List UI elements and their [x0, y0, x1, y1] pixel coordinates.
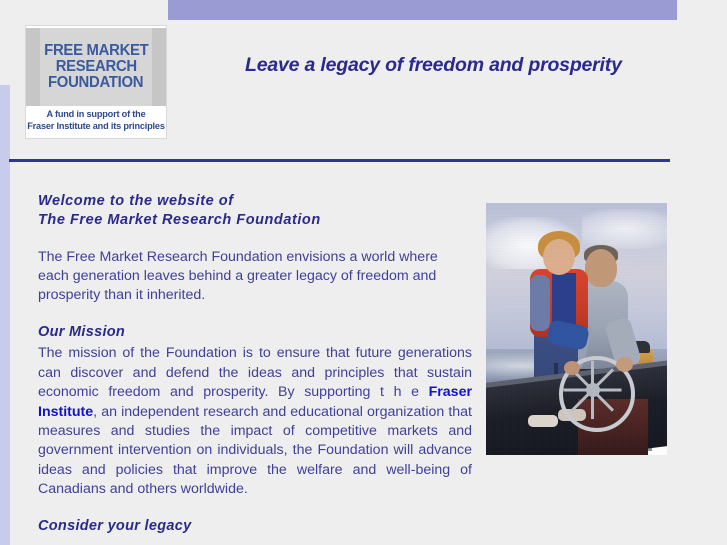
hero-photo: [486, 203, 667, 455]
logo-subtitle-line-1: A fund in support of the: [26, 108, 166, 120]
mission-heading: Our Mission: [38, 323, 472, 342]
mission-text-part-1: The mission of the Foundation is to ensu…: [38, 345, 472, 400]
spacer: [38, 306, 472, 323]
organization-logo[interactable]: FREE MARKET RESEARCH FOUNDATION A fund i…: [26, 26, 166, 138]
mission-text-part-2: , an independent research and educationa…: [38, 404, 472, 498]
logo-line-1: FREE MARKET: [44, 43, 148, 59]
legacy-heading: Consider your legacy: [38, 517, 472, 536]
intro-paragraph: The Free Market Research Foundation envi…: [38, 248, 472, 306]
spacer: [38, 500, 472, 517]
logo-plate: FREE MARKET RESEARCH FOUNDATION: [26, 28, 166, 106]
welcome-heading-line-1: Welcome to the website of: [38, 192, 472, 211]
logo-subtitle: A fund in support of the Fraser Institut…: [26, 108, 166, 132]
header-divider-rule: [9, 159, 670, 162]
logo-line-2: RESEARCH: [55, 59, 136, 75]
logo-inner-plate: FREE MARKET RESEARCH FOUNDATION: [40, 28, 152, 106]
mission-paragraph: The mission of the Foundation is to ensu…: [38, 344, 472, 500]
welcome-heading: Welcome to the website of The Free Marke…: [38, 192, 472, 231]
logo-line-3: FOUNDATION: [48, 75, 143, 91]
logo-subtitle-line-2: Fraser Institute and its principles: [26, 120, 166, 132]
main-content: Welcome to the website of The Free Marke…: [38, 192, 472, 536]
welcome-heading-line-2: The Free Market Research Foundation: [38, 211, 472, 230]
header-tagline: Leave a legacy of freedom and prosperity: [245, 52, 665, 79]
page-header: FREE MARKET RESEARCH FOUNDATION A fund i…: [0, 0, 727, 160]
spacer: [38, 231, 472, 248]
hero-photo-frame: [486, 203, 667, 455]
photo-grain-overlay: [486, 203, 667, 455]
